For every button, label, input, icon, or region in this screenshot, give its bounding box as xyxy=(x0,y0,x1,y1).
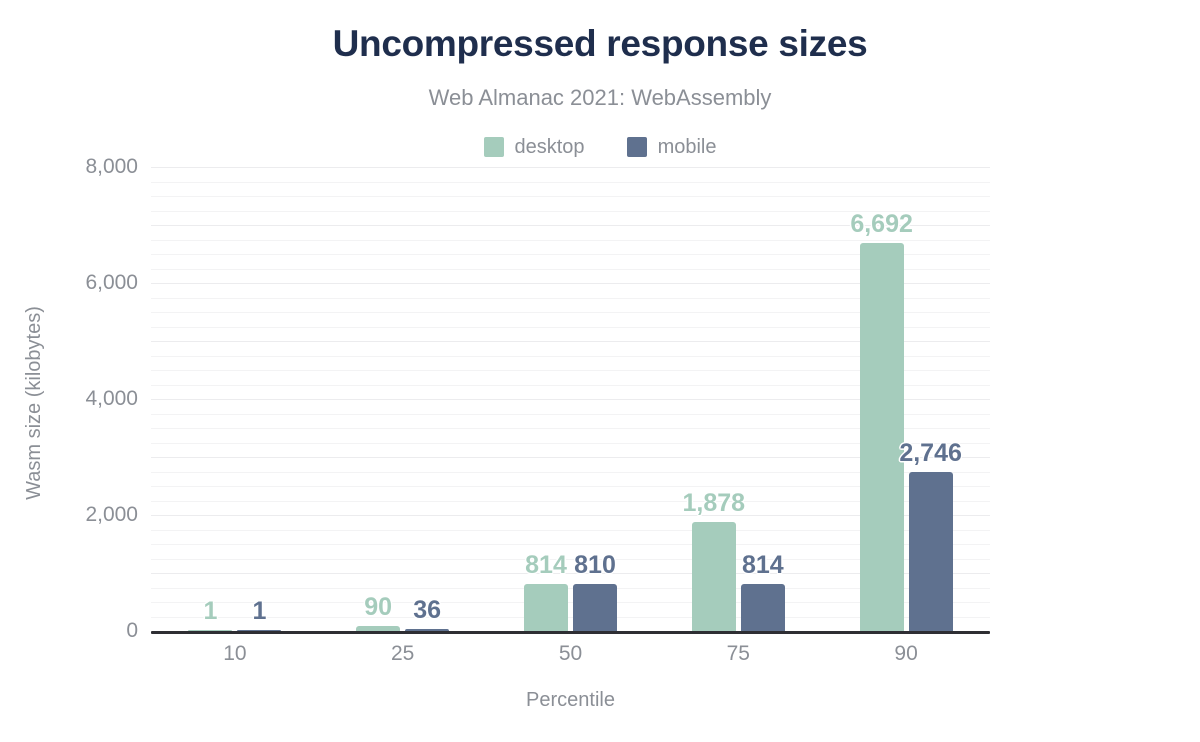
legend-label-desktop: desktop xyxy=(515,136,585,158)
x-axis-tick-label: 50 xyxy=(511,641,631,667)
bar-label-mobile-p25: 36 xyxy=(367,596,487,624)
bar-label-mobile-p10: 1 xyxy=(199,597,319,625)
legend-item-desktop[interactable]: desktop xyxy=(484,136,585,158)
x-axis-tick-label: 25 xyxy=(343,641,463,667)
chart-title: Uncompressed response sizes xyxy=(0,22,1200,66)
x-axis-tick-label: 10 xyxy=(175,641,295,667)
x-axis-title: Percentile xyxy=(151,688,990,712)
y-axis-tick-label: 0 xyxy=(126,619,138,643)
gridline xyxy=(151,240,990,241)
bar-desktop-p90[interactable] xyxy=(860,243,904,631)
bar-mobile-p90[interactable] xyxy=(909,472,953,631)
y-axis-title: Wasm size (kilobytes) xyxy=(22,203,46,603)
y-axis-tick-label: 8,000 xyxy=(85,155,138,179)
bar-mobile-p75[interactable] xyxy=(741,584,785,631)
legend-swatch-desktop xyxy=(484,137,504,157)
bar-label-mobile-p75: 814 xyxy=(703,551,823,579)
bar-label-desktop-p90: 6,692 xyxy=(822,210,942,238)
gridline xyxy=(151,182,990,183)
bar-label-desktop-p75: 1,878 xyxy=(654,489,774,517)
bar-mobile-p50[interactable] xyxy=(573,584,617,631)
bar-desktop-p50[interactable] xyxy=(524,584,568,631)
chart-legend: desktop mobile xyxy=(0,136,1200,158)
chart-container: Uncompressed response sizes Web Almanac … xyxy=(0,0,1200,742)
gridline xyxy=(151,196,990,197)
bar-label-mobile-p90: 2,746 xyxy=(871,439,991,467)
y-axis-tick-label: 2,000 xyxy=(85,503,138,527)
legend-label-mobile: mobile xyxy=(658,136,717,158)
legend-item-mobile[interactable]: mobile xyxy=(627,136,717,158)
x-axis-line xyxy=(151,631,990,634)
x-axis-tick-label: 90 xyxy=(846,641,966,667)
legend-swatch-mobile xyxy=(627,137,647,157)
chart-subtitle: Web Almanac 2021: WebAssembly xyxy=(0,84,1200,112)
bar-label-mobile-p50: 810 xyxy=(535,551,655,579)
gridline xyxy=(151,167,990,168)
y-axis-tick-label: 4,000 xyxy=(85,387,138,411)
y-axis-tick-label: 6,000 xyxy=(85,271,138,295)
x-axis-tick-label: 75 xyxy=(678,641,798,667)
